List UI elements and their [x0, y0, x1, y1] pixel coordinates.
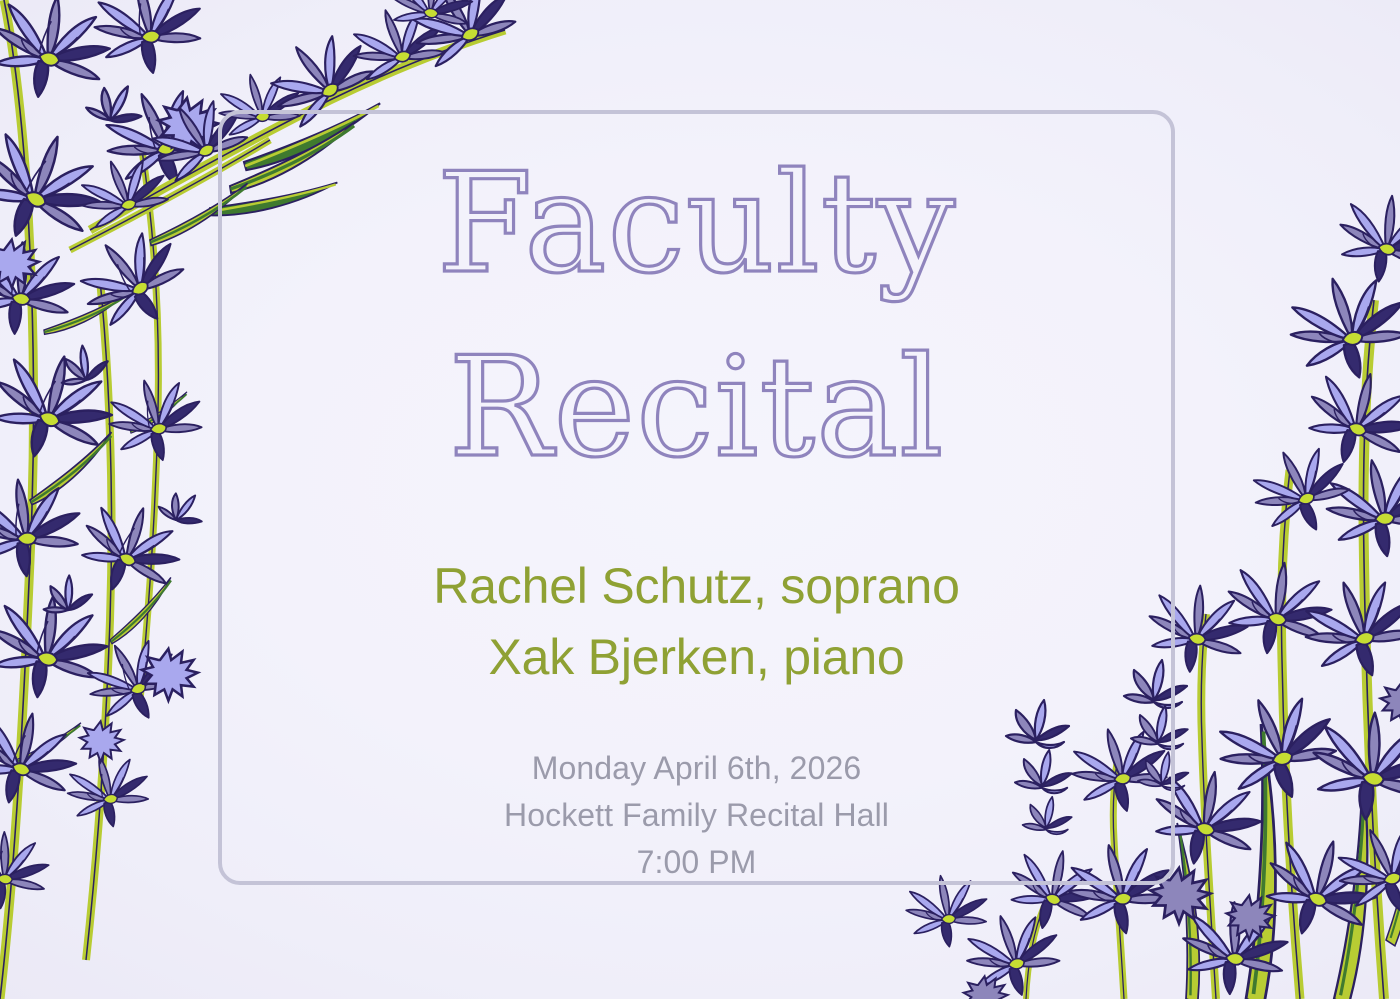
- poster-content: Faculty Recital Rachel Schutz, soprano X…: [218, 110, 1175, 885]
- title-line-2: Recital: [218, 316, 1175, 500]
- performer-piano: Xak Bjerken, piano: [218, 622, 1175, 693]
- poster-title: Faculty Recital: [218, 132, 1175, 499]
- title-line-1: Faculty: [218, 132, 1175, 316]
- event-date: Monday April 6th, 2026: [218, 745, 1175, 792]
- poster-canvas: Faculty Recital Rachel Schutz, soprano X…: [0, 0, 1400, 999]
- event-venue: Hockett Family Recital Hall: [218, 792, 1175, 839]
- event-details: Monday April 6th, 2026 Hockett Family Re…: [218, 745, 1175, 885]
- event-time: 7:00 PM: [218, 839, 1175, 886]
- performer-soprano: Rachel Schutz, soprano: [218, 551, 1175, 622]
- performers-list: Rachel Schutz, soprano Xak Bjerken, pian…: [218, 551, 1175, 693]
